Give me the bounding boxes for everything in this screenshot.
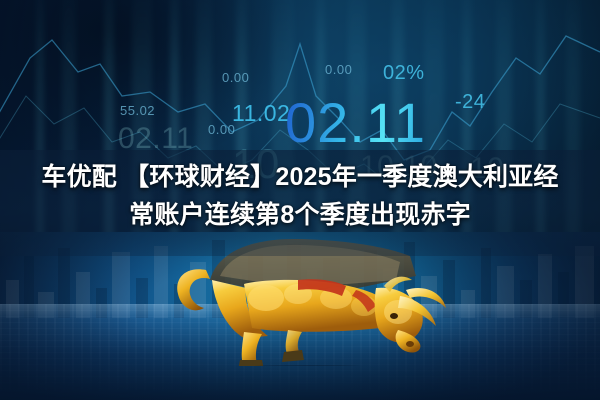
news-thumbnail-image: 0.00 55.02 0.00 11.02 0.00 02% -24 02.11… <box>0 0 600 400</box>
bg-number-primary: 02.11 <box>285 90 426 155</box>
headline-line-2: 常账户连续第8个季度出现赤字 <box>0 196 600 234</box>
bg-number: 02% <box>383 62 425 85</box>
bg-number: 0.00 <box>222 70 249 85</box>
headline: 车优配 【环球财经】2025年一季度澳大利亚经 常账户连续第8个季度出现赤字 <box>0 158 600 234</box>
bg-number: -24 <box>455 91 485 114</box>
headline-line-1: 车优配 【环球财经】2025年一季度澳大利亚经 <box>0 158 600 196</box>
bg-number: 55.02 <box>120 103 155 118</box>
bg-number: 0.00 <box>325 62 352 77</box>
bg-number: 11.02 <box>232 100 290 127</box>
